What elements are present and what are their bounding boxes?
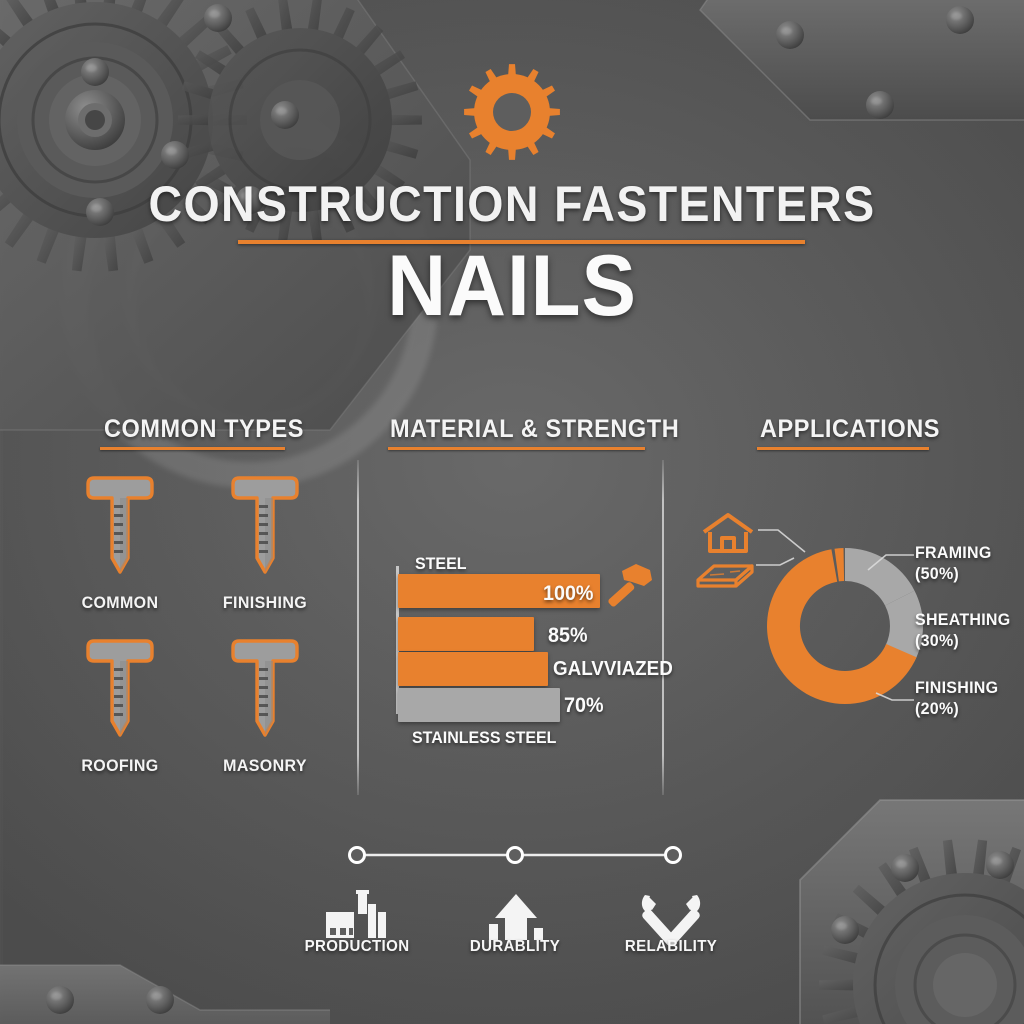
donut-label-pct: (50%)	[915, 564, 992, 585]
nail-card-masonry[interactable]: MASONRY	[205, 635, 325, 776]
bar-row-2	[398, 617, 534, 651]
donut-label-framing: FRAMING (50%)	[915, 543, 992, 584]
donut-label-pct: (20%)	[915, 699, 998, 720]
timeline-node	[508, 848, 523, 863]
donut-label-pct: (30%)	[915, 631, 1010, 652]
donut-label-name: FRAMING	[915, 543, 992, 564]
timeline-label-durability: DURABLITY	[470, 938, 560, 956]
nail-card-common[interactable]: COMMON	[60, 472, 180, 613]
nail-icon	[60, 472, 180, 582]
plank-icon	[694, 558, 756, 592]
divider-left	[357, 460, 359, 795]
section-underline-applications	[757, 447, 929, 450]
section-heading-material-strength: MATERIAL & STRENGTH	[390, 415, 679, 444]
bar-value-label-2: 85%	[548, 624, 588, 648]
timeline-node	[666, 848, 681, 863]
nail-label: FINISHING	[209, 593, 322, 613]
donut-label-name: FINISHING	[915, 678, 998, 699]
section-underline-common-types	[100, 447, 285, 450]
nail-label: ROOFING	[64, 756, 177, 776]
section-underline-material-strength	[388, 447, 645, 450]
donut-chart	[755, 535, 935, 717]
bar-row-3	[398, 652, 548, 686]
timeline-track	[345, 843, 685, 867]
nail-label: MASONRY	[209, 756, 322, 776]
bar-value-label-4: 70%	[564, 694, 604, 718]
nail-icon	[60, 635, 180, 745]
section-heading-applications: APPLICATIONS	[760, 415, 940, 444]
bar-chart-bottom-label: STAINLESS STEEL	[412, 728, 556, 748]
section-heading-common-types: COMMON TYPES	[104, 415, 304, 444]
nail-label: COMMON	[64, 593, 177, 613]
nail-icon	[205, 472, 325, 582]
divider-right	[662, 460, 664, 795]
page-title: CONSTRUCTION FASTENTERS	[36, 175, 988, 233]
timeline-label-production: PRODUCTION	[305, 938, 410, 956]
infographic-canvas: CONSTRUCTION FASTENTERS NAILS COMMON TYP…	[0, 0, 1024, 1024]
bar-value-label-1: 100%	[543, 582, 593, 606]
page-subtitle: NAILS	[26, 243, 999, 329]
donut-label-finishing: FINISHING (20%)	[915, 678, 998, 719]
timeline-label-reliability: RELABILITY	[625, 938, 717, 956]
nail-icon	[205, 635, 325, 745]
donut-label-sheathing: SHEATHING (30%)	[915, 610, 1010, 651]
bar-chart-top-label: STEEL	[415, 554, 467, 574]
gear-icon	[462, 62, 562, 162]
hammer-icon	[600, 558, 660, 620]
donut-label-name: SHEATHING	[915, 610, 1010, 631]
bar-row-4	[398, 688, 560, 722]
nail-card-roofing[interactable]: ROOFING	[60, 635, 180, 776]
timeline-node	[350, 848, 365, 863]
bar-value-label-3: GALVVIAZED	[553, 658, 673, 681]
house-icon	[698, 510, 758, 556]
nail-card-finishing[interactable]: FINISHING	[205, 472, 325, 613]
